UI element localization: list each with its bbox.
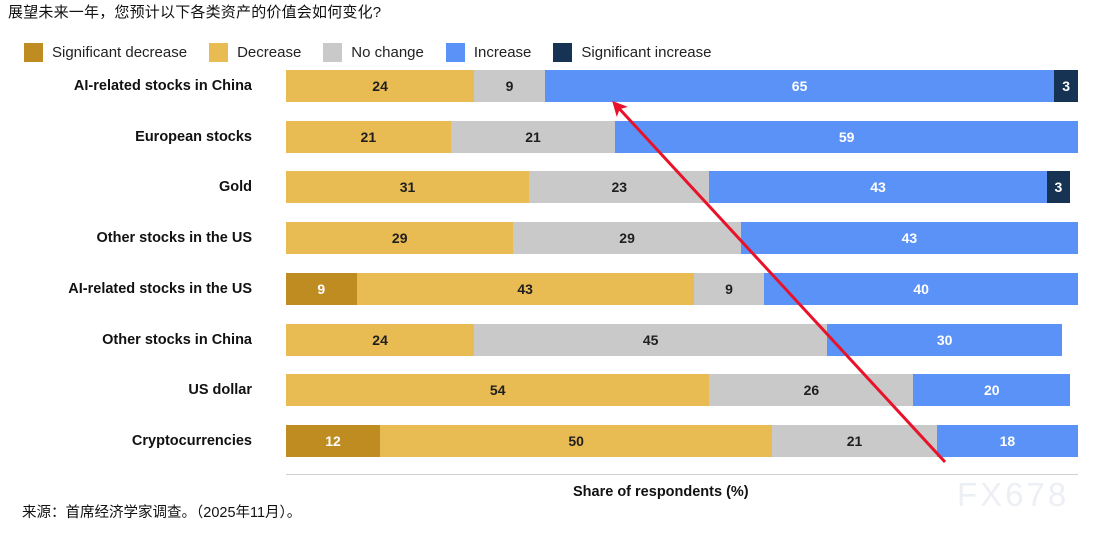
bar-row: AI-related stocks in China249653 <box>0 70 1110 121</box>
legend-swatch-icon <box>24 43 43 62</box>
bar-segment[interactable]: 24 <box>286 324 474 356</box>
bar-segment[interactable]: 29 <box>513 222 740 254</box>
bar-row-category-label: Cryptocurrencies <box>0 425 252 457</box>
bar-row-category-label: AI-related stocks in China <box>0 70 252 102</box>
chart-plot-area: AI-related stocks in China249653European… <box>0 70 1110 475</box>
bar-segment[interactable]: 59 <box>615 121 1078 153</box>
bar-row-category-label: Other stocks in China <box>0 324 252 356</box>
bar-segment[interactable]: 43 <box>709 171 1046 203</box>
bar-segment[interactable]: 30 <box>827 324 1062 356</box>
bar-row-category-label: European stocks <box>0 121 252 153</box>
bar-segment[interactable]: 9 <box>474 70 545 102</box>
bar-track: 244530 <box>286 324 1078 356</box>
bar-row-category-label: Other stocks in the US <box>0 222 252 254</box>
bar-track: 292943 <box>286 222 1078 254</box>
legend-item-4[interactable]: Increase <box>446 41 532 63</box>
page-title: 展望未来一年，您预计以下各类资产的价值会如何变化? <box>8 1 381 22</box>
bar-segment[interactable]: 26 <box>709 374 913 406</box>
bar-segment[interactable]: 50 <box>380 425 772 457</box>
bar-row: US dollar542620 <box>0 374 1110 425</box>
bar-segment[interactable]: 21 <box>286 121 451 153</box>
bar-row: Cryptocurrencies12502118 <box>0 425 1110 476</box>
bar-segment[interactable]: 31 <box>286 171 529 203</box>
bar-row: Other stocks in the US292943 <box>0 222 1110 273</box>
bar-segment[interactable]: 29 <box>286 222 513 254</box>
legend-swatch-icon <box>209 43 228 62</box>
bar-segment[interactable]: 45 <box>474 324 827 356</box>
legend-swatch-icon <box>446 43 465 62</box>
bar-track: 249653 <box>286 70 1078 102</box>
bar-row: AI-related stocks in the US943940 <box>0 273 1110 324</box>
bar-row-category-label: US dollar <box>0 374 252 406</box>
bar-segment[interactable]: 65 <box>545 70 1055 102</box>
bar-row: Gold3123433 <box>0 171 1110 222</box>
bar-row: European stocks212159 <box>0 121 1110 172</box>
bar-track: 212159 <box>286 121 1078 153</box>
bar-segment[interactable]: 24 <box>286 70 474 102</box>
legend-item-label: Significant decrease <box>52 44 187 61</box>
bar-row-category-label: Gold <box>0 171 252 203</box>
bar-segment[interactable]: 40 <box>764 273 1078 305</box>
x-axis-label: Share of respondents (%) <box>573 484 749 500</box>
legend-item-1[interactable]: Significant decrease <box>24 41 187 63</box>
legend-swatch-icon <box>323 43 342 62</box>
bar-segment[interactable]: 12 <box>286 425 380 457</box>
bar-segment[interactable]: 23 <box>529 171 709 203</box>
bar-segment[interactable]: 3 <box>1054 70 1078 102</box>
bar-segment[interactable]: 3 <box>1047 171 1071 203</box>
bar-segment[interactable]: 9 <box>286 273 357 305</box>
legend-item-2[interactable]: Decrease <box>209 41 301 63</box>
bar-segment[interactable]: 20 <box>913 374 1070 406</box>
bar-segment[interactable]: 43 <box>741 222 1078 254</box>
legend-item-label: Increase <box>474 44 532 61</box>
legend-item-label: Significant increase <box>581 44 711 61</box>
bar-segment[interactable]: 18 <box>937 425 1078 457</box>
legend-item-label: No change <box>351 44 424 61</box>
bar-track: 12502118 <box>286 425 1078 457</box>
legend-item-3[interactable]: No change <box>323 41 424 63</box>
bar-track: 542620 <box>286 374 1078 406</box>
bar-row: Other stocks in China244530 <box>0 324 1110 375</box>
legend-item-5[interactable]: Significant increase <box>553 41 711 63</box>
x-axis-line <box>286 474 1078 475</box>
bar-segment[interactable]: 43 <box>357 273 694 305</box>
chart-legend: Significant decreaseDecreaseNo changeInc… <box>24 41 733 63</box>
bar-segment[interactable]: 54 <box>286 374 709 406</box>
bar-track: 943940 <box>286 273 1078 305</box>
watermark-logo: FX678 <box>957 476 1069 514</box>
bar-segment[interactable]: 21 <box>772 425 937 457</box>
bar-segment[interactable]: 21 <box>451 121 616 153</box>
bar-row-category-label: AI-related stocks in the US <box>0 273 252 305</box>
source-note: 来源：首席经济学家调查。（2025年11月）。 <box>22 501 301 522</box>
legend-item-label: Decrease <box>237 44 301 61</box>
bar-segment[interactable]: 9 <box>694 273 765 305</box>
legend-swatch-icon <box>553 43 572 62</box>
bar-track: 3123433 <box>286 171 1078 203</box>
